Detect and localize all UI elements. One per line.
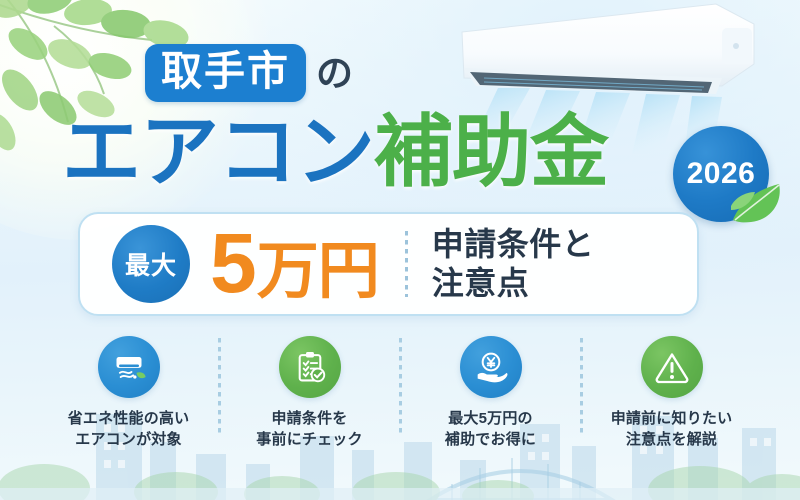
air-conditioner-icon bbox=[98, 336, 160, 398]
feature-item-energy-efficiency: 省エネ性能の高い エアコンが対象 bbox=[38, 336, 219, 451]
feature-label: 申請条件を 事前にチェック bbox=[256, 408, 362, 451]
banner-root: 取手市 の エアコン 補助金 2026 最大 5 万円 申請条件と 注意点 bbox=[0, 0, 800, 500]
city-name-badge: 取手市 bbox=[145, 44, 306, 102]
conditions-line-1: 申請条件と bbox=[432, 225, 595, 264]
feature-item-subsidy-amount: 最大5万円の 補助でお得に bbox=[400, 336, 581, 451]
clipboard-checklist-icon bbox=[279, 336, 341, 398]
headline-top-row: 取手市 の bbox=[145, 44, 353, 102]
card-dotted-divider bbox=[405, 231, 408, 297]
hand-holding-yen-coin-icon bbox=[460, 336, 522, 398]
subsidy-amount-number: 5 bbox=[210, 225, 255, 302]
feature-item-check-conditions: 申請条件を 事前にチェック bbox=[219, 336, 400, 451]
main-title-blue: エアコン bbox=[62, 112, 374, 191]
main-title: エアコン 補助金 bbox=[62, 112, 608, 191]
conditions-line-2: 注意点 bbox=[432, 264, 595, 303]
particle-no: の bbox=[316, 55, 353, 92]
subsidy-amount-unit: 万円 bbox=[257, 243, 379, 300]
conditions-text: 申請条件と 注意点 bbox=[432, 225, 595, 303]
leaf-icon bbox=[729, 176, 789, 226]
feature-label: 最大5万円の 補助でお得に bbox=[445, 408, 536, 451]
warning-triangle-icon bbox=[641, 336, 703, 398]
feature-item-cautions: 申請前に知りたい 注意点を解説 bbox=[581, 336, 762, 451]
feature-label: 省エネ性能の高い エアコンが対象 bbox=[68, 408, 190, 451]
subsidy-amount: 5 万円 bbox=[210, 225, 379, 302]
max-amount-badge: 最大 bbox=[112, 225, 190, 303]
max-amount-label: 最大 bbox=[125, 246, 177, 282]
highlight-card: 最大 5 万円 申請条件と 注意点 bbox=[78, 212, 699, 316]
feature-label: 申請前に知りたい 注意点を解説 bbox=[611, 408, 733, 451]
main-title-green: 補助金 bbox=[374, 112, 608, 191]
feature-list: 省エネ性能の高い エアコンが対象 申請条件を 事前にチェック bbox=[38, 336, 762, 451]
